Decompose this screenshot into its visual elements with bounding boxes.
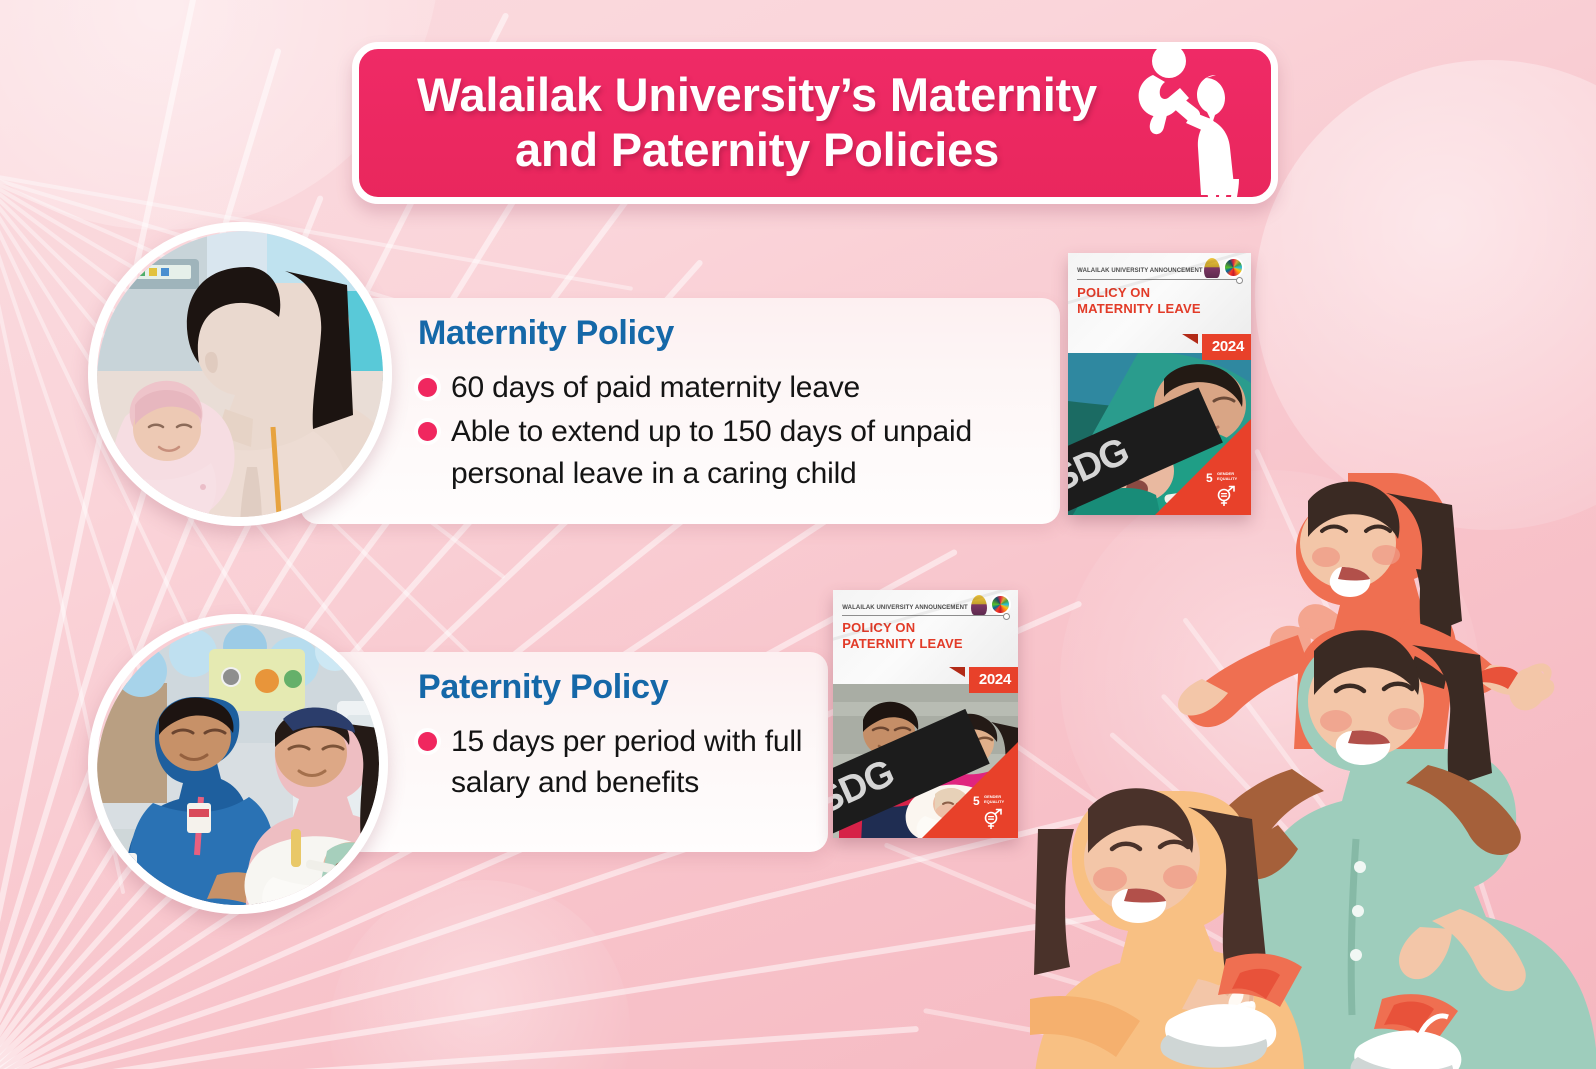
title-line-2: and Paternity Policies xyxy=(393,123,1121,178)
poster-title-line-2: MATERNITY LEAVE xyxy=(1077,301,1201,316)
sdg-5-gender-equality-badge: 5 GENDER EQUALITY xyxy=(973,792,1013,832)
university-crest-icon xyxy=(971,595,987,615)
poster-year-ribbon-tail xyxy=(949,667,965,677)
title-line-1: Walailak University’s Maternity xyxy=(393,68,1121,123)
maternity-bullet-1: 60 days of paid maternity leave xyxy=(451,367,860,408)
bullet-dot-icon xyxy=(418,422,437,441)
list-item: 15 days per period with full salary and … xyxy=(418,721,814,804)
maternity-bullet-2: Able to extend up to 150 days of unpaid … xyxy=(451,411,1046,494)
poster-announcement-label: WALAILAK UNIVERSITY ANNOUNCEMENT xyxy=(1077,268,1203,274)
maternity-card: Maternity Policy 60 days of paid materni… xyxy=(300,298,1060,524)
sdg-number: 5 xyxy=(973,794,980,808)
bullet-dot-icon xyxy=(418,732,437,751)
mother-holding-newborn-photo xyxy=(97,231,383,517)
maternity-heading: Maternity Policy xyxy=(418,314,1046,353)
background-circle-bottom xyxy=(330,880,630,1069)
paternity-bullet-1: 15 days per period with full salary and … xyxy=(451,721,814,804)
paternity-leave-poster[interactable]: WALAILAK UNIVERSITY ANNOUNCEMENT POLICY … xyxy=(833,590,1018,838)
bullet-dot-icon xyxy=(418,378,437,397)
infographic-poster: Walailak University’s Maternity and Pate… xyxy=(0,0,1596,1069)
maternity-photo xyxy=(88,222,392,526)
poster-logos xyxy=(1204,257,1244,278)
poster-year: 2024 xyxy=(1202,334,1251,360)
poster-title: POLICY ON MATERNITY LEAVE xyxy=(1077,285,1201,318)
sdg-wheel-icon xyxy=(1223,257,1244,278)
family-of-three-illustration xyxy=(1030,439,1596,1069)
poster-title-line-1: POLICY ON xyxy=(842,620,915,635)
paternity-bullet-list: 15 days per period with full salary and … xyxy=(418,721,814,804)
poster-announcement-label: WALAILAK UNIVERSITY ANNOUNCEMENT xyxy=(842,605,968,611)
mother-lifting-baby-icon xyxy=(1117,39,1249,197)
maternity-bullet-list: 60 days of paid maternity leave Able to … xyxy=(418,367,1046,494)
sdg-wheel-icon xyxy=(990,594,1011,615)
paternity-card-body: Paternity Policy 15 days per period with… xyxy=(418,668,814,807)
paternity-heading: Paternity Policy xyxy=(418,668,814,707)
poster-title-line-2: PATERNITY LEAVE xyxy=(842,636,963,651)
poster-rule xyxy=(842,615,1007,616)
poster-year: 2024 xyxy=(969,667,1018,693)
university-crest-icon xyxy=(1204,258,1220,278)
poster-logos xyxy=(971,594,1011,615)
poster-title-line-1: POLICY ON xyxy=(1077,285,1150,300)
list-item: 60 days of paid maternity leave xyxy=(418,367,1046,408)
paternity-photo xyxy=(88,614,388,914)
poster-year-ribbon-tail xyxy=(1182,334,1198,344)
title-banner: Walailak University’s Maternity and Pate… xyxy=(352,42,1278,204)
list-item: Able to extend up to 150 days of unpaid … xyxy=(418,411,1046,494)
poster-title: POLICY ON PATERNITY LEAVE xyxy=(842,620,963,653)
maternity-card-body: Maternity Policy 60 days of paid materni… xyxy=(418,314,1046,497)
father-mother-and-newborn-photo xyxy=(97,623,379,905)
gender-equality-symbol-icon xyxy=(982,807,1004,829)
poster-rule xyxy=(1077,279,1240,280)
sdg-label: GENDER EQUALITY xyxy=(984,795,1004,804)
